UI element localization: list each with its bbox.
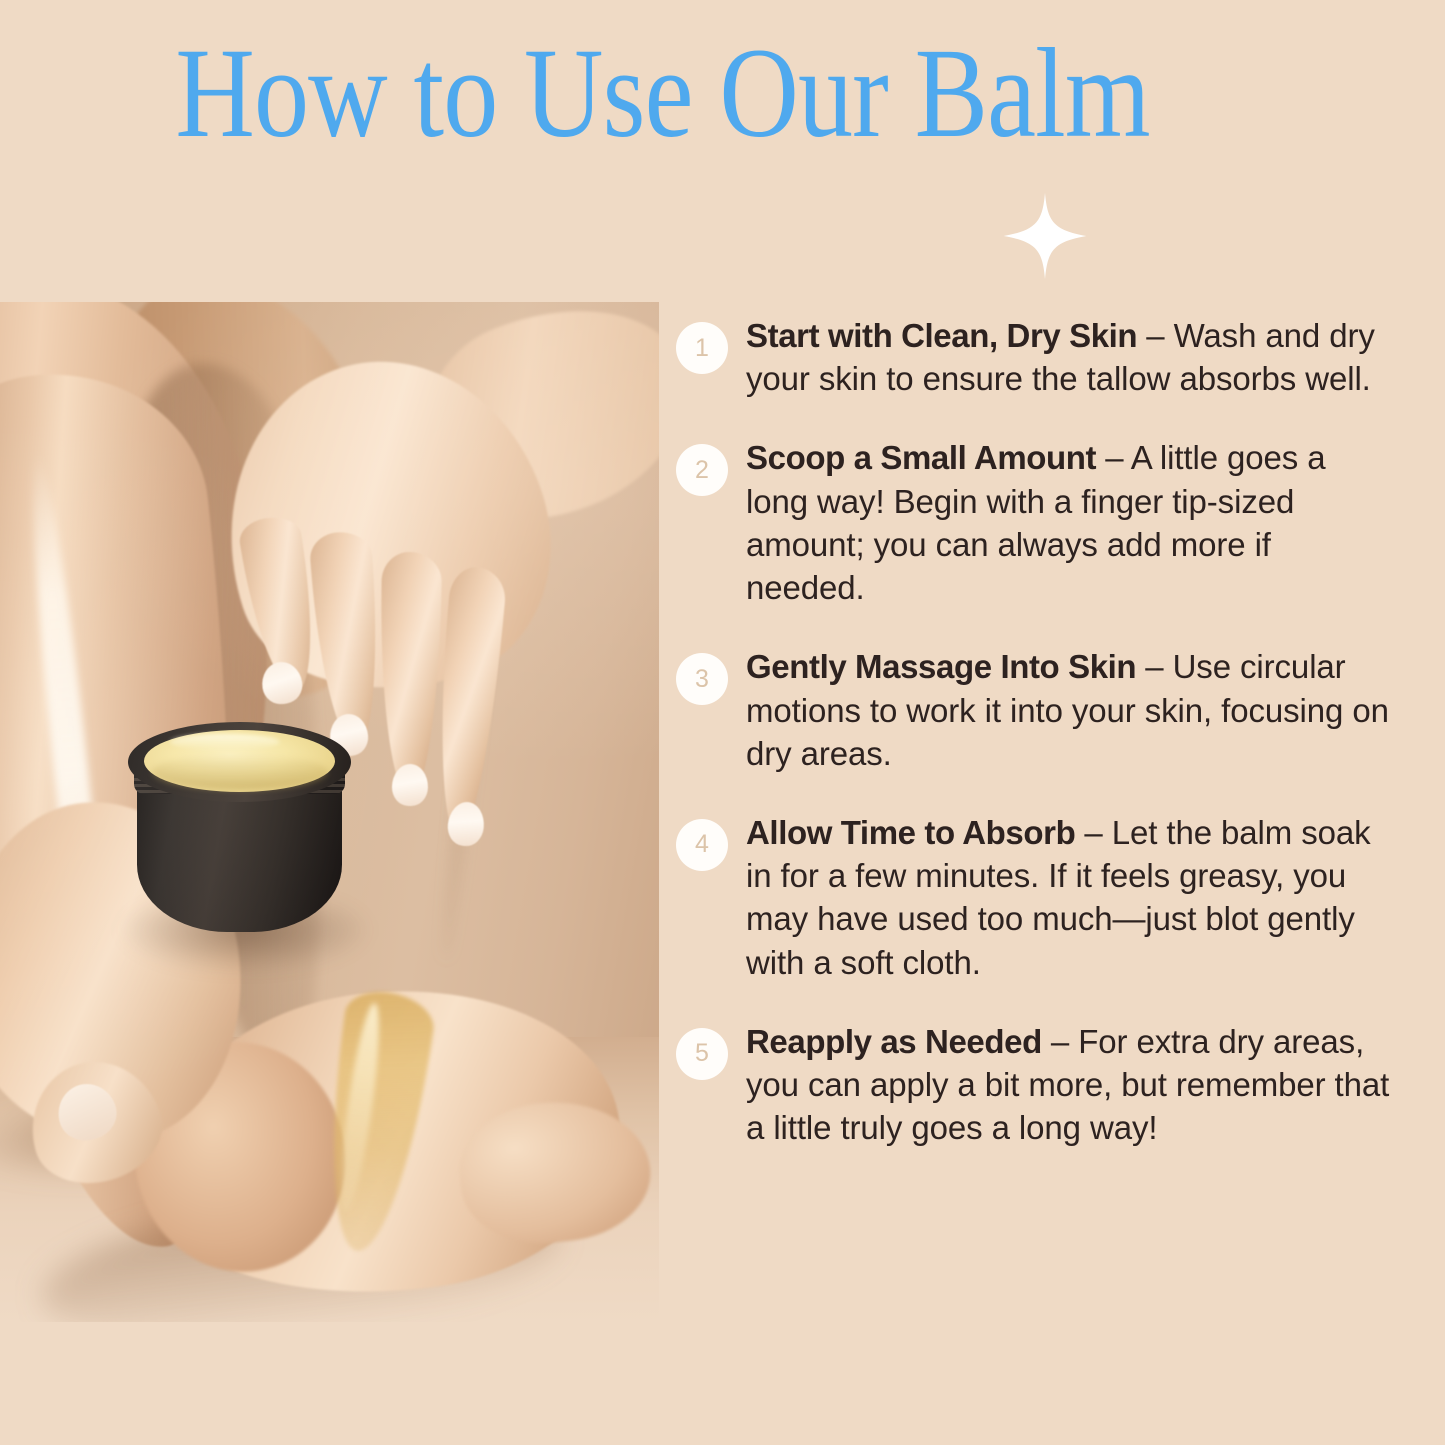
photo-fingernail (392, 764, 429, 807)
step-title-5: Reapply as Needed (746, 1023, 1042, 1060)
step-title-2: Scoop a Small Amount (746, 439, 1096, 476)
step-text-4: Allow Time to Absorb – Let the balm soak… (746, 811, 1396, 984)
step-item-5: 5 Reapply as Needed – For extra dry area… (676, 1020, 1396, 1150)
step-item-4: 4 Allow Time to Absorb – Let the balm so… (676, 811, 1396, 984)
step-number-badge-1: 1 (676, 322, 728, 374)
step-separator-1: – (1137, 317, 1173, 354)
step-title-4: Allow Time to Absorb (746, 814, 1075, 851)
step-number-badge-2: 2 (676, 444, 728, 496)
step-item-3: 3 Gently Massage Into Skin – Use circula… (676, 645, 1396, 775)
step-number-badge-3: 3 (676, 653, 728, 705)
step-text-3: Gently Massage Into Skin – Use circular … (746, 645, 1396, 775)
step-number-badge-4: 4 (676, 819, 728, 871)
steps-list: 1 Start with Clean, Dry Skin – Wash and … (676, 302, 1396, 1186)
header-band: How to Use Our Balm (0, 0, 1445, 302)
page-title: How to Use Our Balm (93, 28, 1233, 159)
step-separator-5: – (1042, 1023, 1078, 1060)
step-separator-3: – (1136, 648, 1172, 685)
step-separator-4: – (1075, 814, 1111, 851)
step-title-1: Start with Clean, Dry Skin (746, 317, 1137, 354)
step-number-badge-5: 5 (676, 1028, 728, 1080)
step-item-2: 2 Scoop a Small Amount – A little goes a… (676, 436, 1396, 609)
sparkle-icon-top (1003, 193, 1087, 279)
step-text-2: Scoop a Small Amount – A little goes a l… (746, 436, 1396, 609)
step-separator-2: – (1096, 439, 1131, 476)
step-text-1: Start with Clean, Dry Skin – Wash and dr… (746, 314, 1396, 400)
balm-jar-contents-shading (152, 754, 328, 790)
product-photo (0, 302, 659, 1322)
step-text-5: Reapply as Needed – For extra dry areas,… (746, 1020, 1396, 1150)
step-item-1: 1 Start with Clean, Dry Skin – Wash and … (676, 314, 1396, 400)
infographic-page: How to Use Our Balm (0, 0, 1445, 1445)
step-title-3: Gently Massage Into Skin (746, 648, 1136, 685)
balm-jar-highlight (170, 734, 280, 750)
